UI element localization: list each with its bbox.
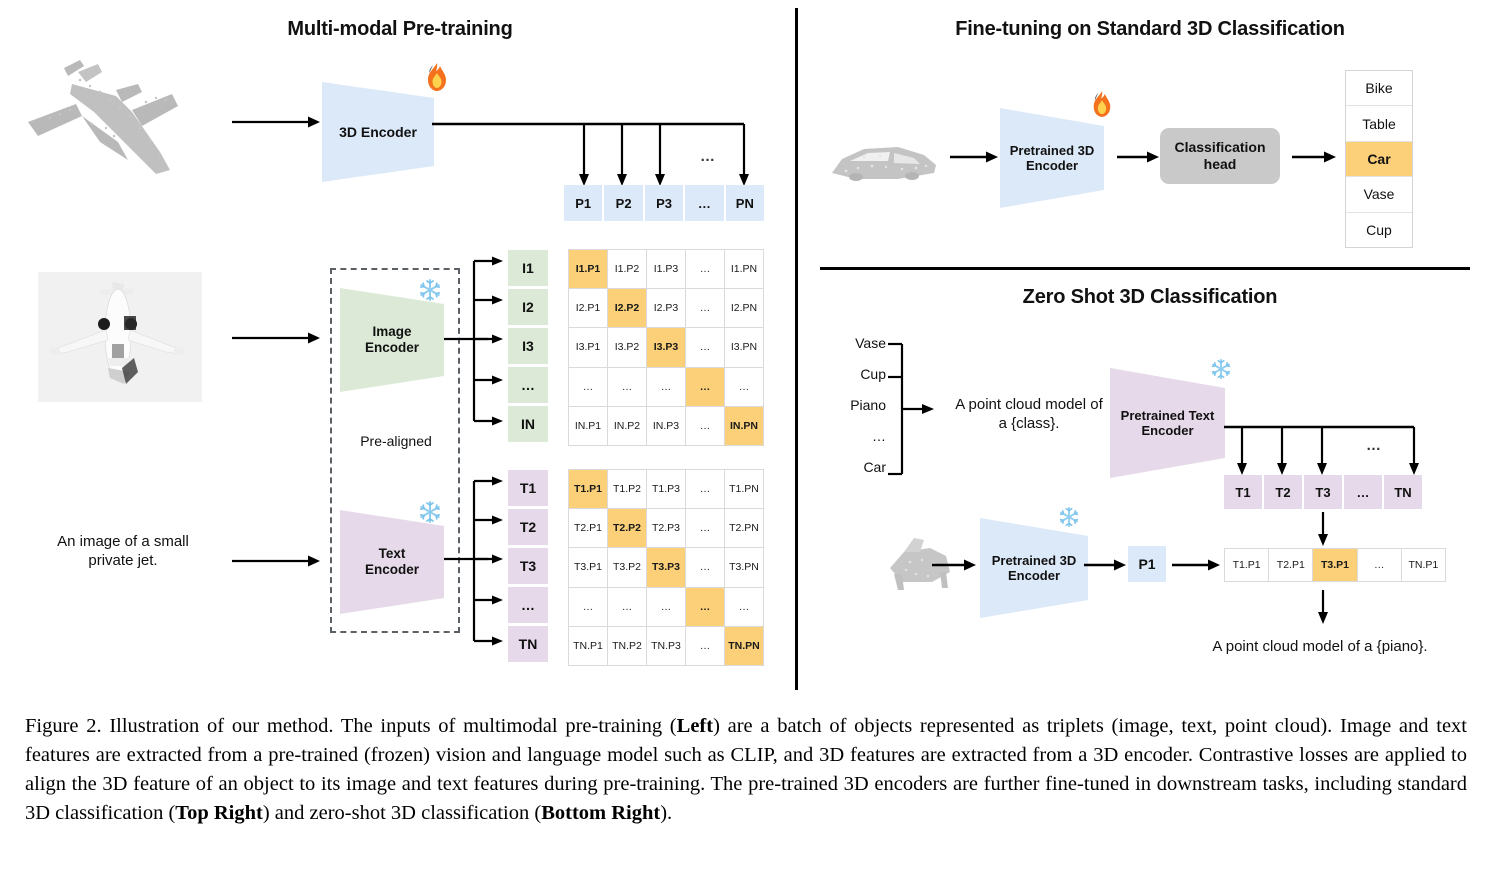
t-cell[interactable]: T3 [1304,475,1342,509]
matrix-cell[interactable]: I2.P3 [647,289,685,327]
pre-aligned-label: Pre-aligned [341,433,451,451]
matrix-cell[interactable]: … [686,548,724,586]
class-item[interactable]: Bike [1346,71,1412,106]
snowflake-icon [418,500,442,524]
panel-vertical-divider [795,8,798,690]
arrow-text-to-text-encoder [232,554,320,568]
arrow-head-to-classlist [1292,150,1336,164]
matrix-cell[interactable]: … [686,588,724,626]
class-list-brace [888,338,936,480]
i-cell[interactable]: IN [508,406,548,442]
p-cell[interactable]: P1 [564,185,602,221]
panel-horizontal-divider [820,267,1470,270]
matrix-cell[interactable]: T3.P3 [647,548,685,586]
matrix-cell[interactable]: I3.PN [725,328,763,366]
p1-feature-box[interactable]: P1 [1128,546,1166,582]
matrix-cell[interactable]: … [647,368,685,406]
matrix-cell[interactable]: … [569,368,607,406]
image-point-similarity-matrix: I1.P1 I1.P2 I1.P3 … I1.PN I2.P1 I2.P2 I2… [568,249,764,446]
t-feature-row-zeroshot: T1 T2 T3 … TN [1224,475,1422,509]
figure-canvas: Multi-modal Pre-training [0,0,1490,700]
matrix-cell[interactable]: I1.P2 [608,250,646,288]
class-item[interactable]: Vase [1346,177,1412,212]
matrix-cell[interactable]: I3.P1 [569,328,607,366]
matrix-cell[interactable]: I1.PN [725,250,763,288]
matrix-cell[interactable]: I3.P3 [647,328,685,366]
t-cell[interactable]: T3 [508,548,548,584]
top-right-panel-title: Fine-tuning on Standard 3D Classificatio… [830,18,1470,41]
arrow-image-to-image-encoder [232,331,320,345]
pretrained-3d-encoder-block-zeroshot[interactable]: Pretrained 3D Encoder [980,518,1088,618]
p-branch-dots: … [700,148,716,165]
score-cell[interactable]: … [1358,549,1401,581]
score-cell[interactable]: T1.P1 [1225,549,1268,581]
t-cell[interactable]: T2 [1264,475,1302,509]
arrow-t3-down-to-scores [1316,512,1330,548]
matrix-cell[interactable]: I1.P1 [569,250,607,288]
arrow-encoder-to-head [1117,150,1159,164]
snowflake-icon [1210,358,1232,380]
matrix-cell[interactable]: IN.P1 [569,407,607,445]
p-cell[interactable]: … [685,185,723,221]
text-point-similarity-matrix: T1.P1 T1.P2 T1.P3 … T1.PN T2.P1 T2.P2 T2… [568,469,764,666]
snowflake-icon [418,278,442,302]
matrix-cell[interactable]: T1.P2 [608,470,646,508]
image-encoder-label: Image Encoder [365,324,419,356]
matrix-cell[interactable]: T2.P1 [569,509,607,547]
airplane-point-cloud [20,50,220,210]
3d-encoder-label: 3D Encoder [339,124,417,141]
pretrained-text-encoder-label: Pretrained Text Encoder [1121,408,1215,439]
t-cell[interactable]: … [508,587,548,623]
text-feature-column: T1 T2 T3 … TN [508,470,548,665]
arrow-car-to-encoder [950,150,998,164]
score-cell-selected[interactable]: T3.P1 [1313,549,1356,581]
3d-encoder-block[interactable]: 3D Encoder [322,82,434,182]
matrix-cell[interactable]: … [725,368,763,406]
class-prediction-list: Bike Table Car Vase Cup [1345,70,1413,248]
figure-caption: Figure 2. Illustration of our method. Th… [25,712,1467,828]
t-cell[interactable]: T1 [508,470,548,506]
pretrained-3d-encoder-label: Pretrained 3D Encoder [1010,143,1095,174]
t-cell[interactable]: TN [1384,475,1422,509]
t-cell[interactable]: … [1344,475,1382,509]
matrix-cell[interactable]: I2.PN [725,289,763,327]
classification-head-label: Classification head [1174,139,1265,173]
p-cell[interactable]: P3 [645,185,683,221]
matrix-cell[interactable]: … [686,470,724,508]
class-item[interactable]: Cup [1346,213,1412,247]
p-cell[interactable]: P2 [604,185,642,221]
matrix-cell[interactable]: T2.P2 [608,509,646,547]
matrix-cell[interactable]: … [647,588,685,626]
matrix-cell[interactable]: TN.PN [725,627,763,665]
zs-class-item[interactable]: Piano [850,397,886,413]
i-cell[interactable]: … [508,367,548,403]
bottom-right-panel-title: Zero Shot 3D Classification [830,286,1470,309]
matrix-cell[interactable]: … [686,627,724,665]
car-point-cloud [828,135,940,191]
matrix-cell[interactable]: T3.P1 [569,548,607,586]
t-branch-dots: … [1366,437,1382,454]
matrix-cell[interactable]: … [686,368,724,406]
image-encoder-block[interactable]: Image Encoder [340,288,444,392]
snowflake-icon [1058,506,1080,528]
matrix-cell[interactable]: I2.P2 [608,289,646,327]
matrix-cell[interactable]: T2.PN [725,509,763,547]
matrix-cell[interactable]: … [686,509,724,547]
matrix-cell[interactable]: … [686,328,724,366]
text-encoder-label: Text Encoder [365,546,419,578]
zero-shot-class-list: Vase Cup Piano … Car [826,335,886,475]
matrix-cell[interactable]: TN.P1 [569,627,607,665]
text-fanout-bus [444,473,510,651]
arrow-scores-to-result [1316,590,1330,626]
fire-icon [1090,90,1114,118]
zs-class-item[interactable]: … [872,428,886,444]
zs-class-item[interactable]: Car [863,459,886,475]
p-feature-row: P1 P2 P3 … PN [564,185,764,221]
matrix-cell[interactable]: TN.P2 [608,627,646,665]
matrix-cell[interactable]: TN.P3 [647,627,685,665]
zs-class-item[interactable]: Cup [860,366,886,382]
arrow-piano-to-encoder [932,558,976,572]
t-cell[interactable]: TN [508,626,548,662]
left-panel-title: Multi-modal Pre-training [180,18,620,41]
score-cell[interactable]: TN.P1 [1402,549,1445,581]
matrix-cell[interactable]: … [569,588,607,626]
i-cell[interactable]: I2 [508,289,548,325]
input-text-caption: An image of a small private jet. [28,533,218,571]
arrow-cloud-to-3d-encoder [232,115,320,129]
matrix-cell[interactable]: IN.PN [725,407,763,445]
image-feature-column: I1 I2 I3 … IN [508,250,548,445]
matrix-cell[interactable]: … [686,407,724,445]
zero-shot-score-row: T1.P1 T2.P1 T3.P1 … TN.P1 [1224,548,1446,582]
classification-head-block[interactable]: Classification head [1160,128,1280,184]
zs-class-item[interactable]: Vase [855,335,886,351]
prompt-template-text: A point cloud model of a {class}. [934,396,1124,434]
p-cell[interactable]: PN [726,185,764,221]
t-cell[interactable]: T2 [508,509,548,545]
matrix-cell[interactable]: T3.PN [725,548,763,586]
zero-shot-result-text: A point cloud model of a {piano}. [1150,638,1490,657]
text-encoder-block[interactable]: Text Encoder [340,510,444,614]
arrow-encoder-to-p1 [1084,558,1126,572]
matrix-cell[interactable]: T3.P2 [608,548,646,586]
score-cell[interactable]: T2.P1 [1269,549,1312,581]
pretrained-text-encoder-block[interactable]: Pretrained Text Encoder [1110,368,1225,478]
i-cell[interactable]: I3 [508,328,548,364]
airplane-image-thumbnail [38,272,202,402]
matrix-cell[interactable]: … [686,289,724,327]
i-cell[interactable]: I1 [508,250,548,286]
matrix-cell[interactable]: … [686,250,724,288]
matrix-cell[interactable]: I1.P3 [647,250,685,288]
matrix-cell[interactable]: IN.P2 [608,407,646,445]
matrix-cell[interactable]: I3.P2 [608,328,646,366]
matrix-cell[interactable]: … [608,368,646,406]
fire-icon [424,62,450,92]
class-item-selected[interactable]: Car [1346,142,1412,177]
image-fanout-bus [444,253,510,431]
matrix-cell[interactable]: T1.P1 [569,470,607,508]
pretrained-3d-encoder-block-finetune[interactable]: Pretrained 3D Encoder [1000,108,1104,208]
arrow-p1-to-scores [1172,558,1220,572]
pretrained-3d-encoder-label: Pretrained 3D Encoder [992,553,1077,584]
matrix-cell[interactable]: … [725,588,763,626]
class-item[interactable]: Table [1346,106,1412,141]
matrix-cell[interactable]: IN.P3 [647,407,685,445]
matrix-cell[interactable]: … [608,588,646,626]
matrix-cell[interactable]: T2.P3 [647,509,685,547]
matrix-cell[interactable]: T1.PN [725,470,763,508]
t-cell[interactable]: T1 [1224,475,1262,509]
matrix-cell[interactable]: T1.P3 [647,470,685,508]
matrix-cell[interactable]: I2.P1 [569,289,607,327]
